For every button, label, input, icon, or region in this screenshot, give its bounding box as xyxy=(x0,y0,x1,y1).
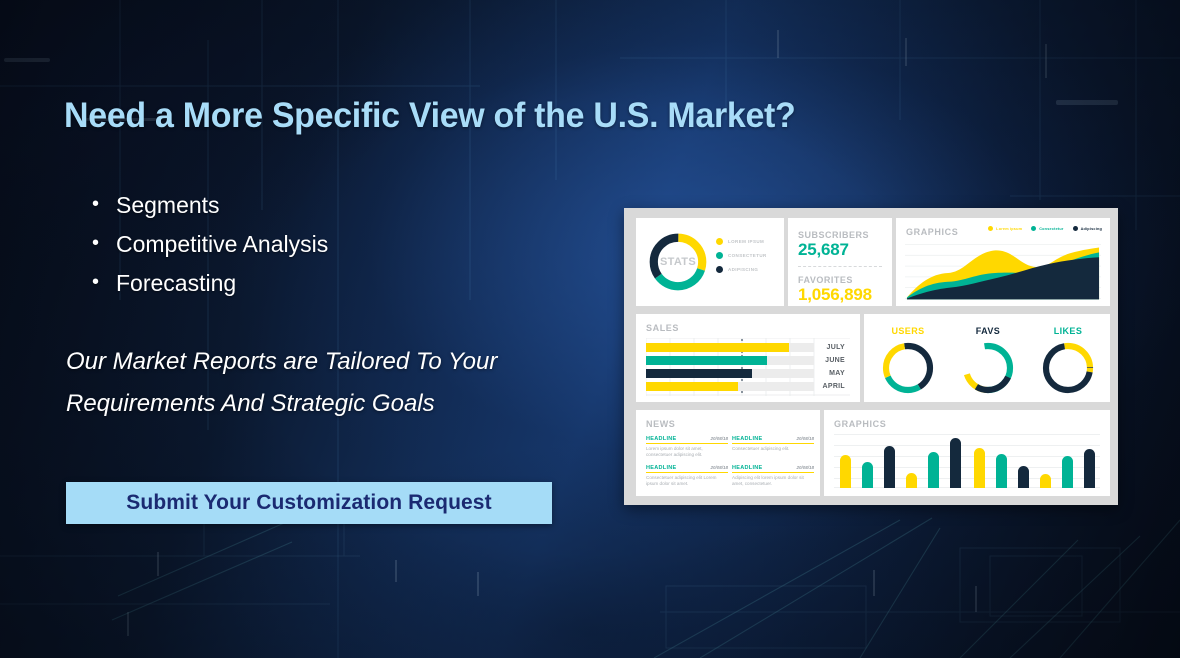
subscribers-label: SUBSCRIBERS xyxy=(798,230,882,240)
rings-card: USERS FAVS LIKES xyxy=(864,314,1110,402)
legend-dot-icon xyxy=(988,226,993,231)
legend-dot-icon xyxy=(716,238,723,245)
sales-month-label: JULY xyxy=(814,344,848,351)
area-chart-plot xyxy=(905,240,1101,302)
bar xyxy=(1018,466,1029,488)
ring-title-users: USERS xyxy=(876,326,940,336)
bars-chart-card: GRAPHICS xyxy=(824,410,1110,496)
news-item[interactable]: HEADLINE 20/08/18 Adipiscing elit lorem … xyxy=(732,465,814,487)
bar xyxy=(1062,456,1073,488)
news-underline xyxy=(732,443,814,444)
slide-canvas: Need a More Specific View of the U.S. Ma… xyxy=(0,0,1180,658)
news-date: 20/08/18 xyxy=(796,436,814,441)
sales-bar xyxy=(646,369,752,378)
sales-chart-card: SALES xyxy=(636,314,860,402)
news-headline: HEADLINE xyxy=(646,436,677,442)
stats-donut-card: STATS LOREM IPSUM CONSECTETUR ADIPISCING xyxy=(636,218,784,306)
news-headline: HEADLINE xyxy=(646,465,677,471)
bar xyxy=(884,446,895,488)
area-chart-title: GRAPHICS xyxy=(906,227,958,237)
feature-bullet-list: Segments Competitive Analysis Forecastin… xyxy=(88,186,328,303)
bullet-item-segments: Segments xyxy=(88,186,328,225)
news-card-title: NEWS xyxy=(646,419,675,429)
legend-dot-icon xyxy=(716,252,723,259)
bar xyxy=(950,438,961,488)
sales-row-july: JULY xyxy=(646,343,848,352)
news-card: NEWS HEADLINE 20/08/18 Lorem ipsum dolor… xyxy=(636,410,820,496)
news-item[interactable]: HEADLINE 20/08/18 Consectetuer adipiscin… xyxy=(646,465,728,487)
sales-row-april: APRIL xyxy=(646,382,848,391)
stats-donut-center-label: STATS xyxy=(646,230,710,294)
subscribers-value: 25,687 xyxy=(798,240,882,260)
legend-item: CONSECTETUR xyxy=(716,252,767,259)
news-underline xyxy=(732,472,814,473)
ring-title-favs: FAVS xyxy=(956,326,1020,336)
legend-label: Consectetur xyxy=(1039,227,1063,231)
area-chart-legend: Lorem ipsum Consectetur Adipiscing xyxy=(988,226,1102,231)
bar xyxy=(840,455,851,488)
bars-chart-title: GRAPHICS xyxy=(834,419,886,429)
ring-chart-favs xyxy=(960,340,1016,396)
legend-label: ADIPISCING xyxy=(728,267,758,272)
favorites-label: FAVORITES xyxy=(798,275,882,285)
dashboard-graphic: STATS LOREM IPSUM CONSECTETUR ADIPISCING xyxy=(624,208,1118,505)
sales-month-label: JUNE xyxy=(814,357,848,364)
legend-dot-icon xyxy=(1073,226,1078,231)
bar xyxy=(1040,474,1051,488)
stats-legend: LOREM IPSUM CONSECTETUR ADIPISCING xyxy=(716,238,767,280)
sales-month-label: MAY xyxy=(814,370,848,377)
news-body: Lorem ipsum dolor sit amet, consectetuer… xyxy=(646,446,728,458)
page-title: Need a More Specific View of the U.S. Ma… xyxy=(64,96,796,136)
bar xyxy=(906,473,917,488)
sales-bar xyxy=(646,343,789,352)
favorites-value: 1,056,898 xyxy=(798,285,882,305)
legend-dot-icon xyxy=(1031,226,1036,231)
divider xyxy=(798,266,882,267)
sales-chart-title: SALES xyxy=(646,323,679,333)
bar xyxy=(974,448,985,488)
bar xyxy=(996,454,1007,488)
legend-item: ADIPISCING xyxy=(716,266,767,273)
sales-row-june: JUNE xyxy=(646,356,848,365)
stats-donut-chart: STATS xyxy=(646,230,710,294)
news-date: 20/08/18 xyxy=(710,436,728,441)
legend-item: Adipiscing xyxy=(1073,226,1102,231)
legend-item: Lorem ipsum xyxy=(988,226,1022,231)
news-underline xyxy=(646,472,728,473)
bullet-item-competitive-analysis: Competitive Analysis xyxy=(88,225,328,264)
bar xyxy=(928,452,939,488)
news-body: Consectetuer adipiscing elit Lorem ipsum… xyxy=(646,475,728,487)
legend-label: Lorem ipsum xyxy=(996,227,1022,231)
news-body: Adipiscing elit lorem ipsum dolor sit am… xyxy=(732,475,814,487)
ring-chart-users xyxy=(880,340,936,396)
legend-item: Consectetur xyxy=(1031,226,1063,231)
kpi-card: SUBSCRIBERS 25,687 FAVORITES 1,056,898 xyxy=(788,218,892,306)
legend-label: LOREM IPSUM xyxy=(728,239,764,244)
news-date: 20/08/18 xyxy=(796,465,814,470)
news-headline: HEADLINE xyxy=(732,465,763,471)
tagline-text: Our Market Reports are Tailored To Your … xyxy=(66,341,606,425)
bar xyxy=(862,462,873,488)
news-body: Consectetuer adipiscing elit. xyxy=(732,446,814,452)
news-item[interactable]: HEADLINE 20/08/18 Consectetuer adipiscin… xyxy=(732,436,814,452)
news-item[interactable]: HEADLINE 20/08/18 Lorem ipsum dolor sit … xyxy=(646,436,728,458)
news-date: 20/08/18 xyxy=(710,465,728,470)
bar xyxy=(1084,449,1095,488)
legend-label: CONSECTETUR xyxy=(728,253,767,258)
submit-customization-request-button[interactable]: Submit Your Customization Request xyxy=(66,482,552,524)
legend-dot-icon xyxy=(716,266,723,273)
news-underline xyxy=(646,443,728,444)
sales-bar xyxy=(646,382,738,391)
legend-item: LOREM IPSUM xyxy=(716,238,767,245)
sales-month-label: APRIL xyxy=(814,383,848,390)
news-headline: HEADLINE xyxy=(732,436,763,442)
area-chart-card: GRAPHICS Lorem ipsum Consectetur Adipisc… xyxy=(896,218,1110,306)
sales-bar xyxy=(646,356,767,365)
ring-title-likes: LIKES xyxy=(1036,326,1100,336)
bars-chart-plot xyxy=(834,434,1100,488)
legend-label: Adipiscing xyxy=(1081,227,1102,231)
bullet-item-forecasting: Forecasting xyxy=(88,264,328,303)
ring-chart-likes xyxy=(1040,340,1096,396)
sales-row-may: MAY xyxy=(646,369,848,378)
